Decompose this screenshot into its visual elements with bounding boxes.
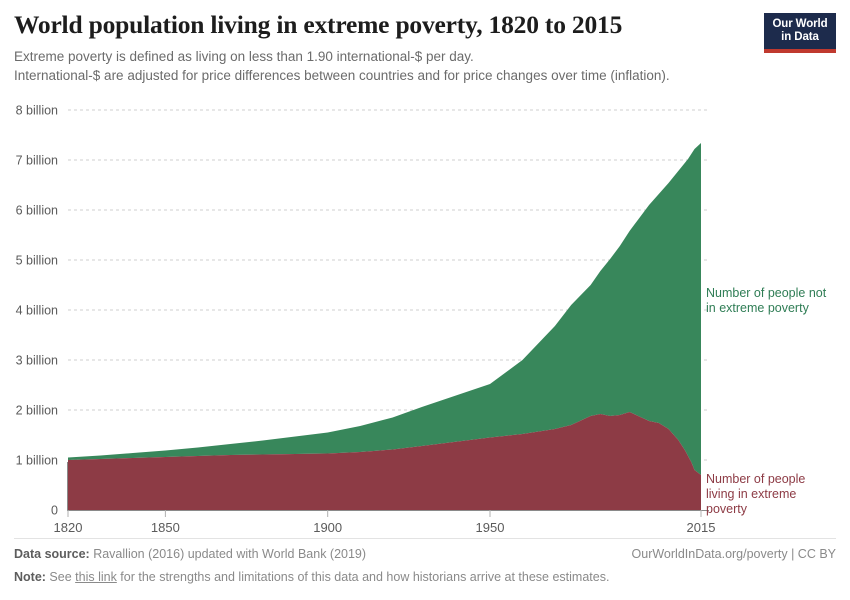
- y-axis-tick-label: 3 billion: [16, 354, 58, 368]
- y-axis-tick-label: 5 billion: [16, 254, 58, 268]
- note-post-text: for the strengths and limitations of thi…: [117, 570, 610, 584]
- note-label: Note:: [14, 570, 46, 584]
- y-axis-tick-label: 0: [51, 504, 58, 518]
- page-title: World population living in extreme pover…: [14, 10, 754, 40]
- data-source: Data source: Ravallion (2016) updated wi…: [14, 545, 366, 563]
- y-axis-tick-label: 6 billion: [16, 204, 58, 218]
- chart-note: Note: See this link for the strengths an…: [14, 568, 609, 586]
- series-label-not-in-poverty: Number of people not in extreme poverty: [706, 286, 831, 316]
- subtitle-line-1: Extreme poverty is defined as living on …: [14, 47, 754, 66]
- attribution[interactable]: OurWorldInData.org/poverty | CC BY: [632, 545, 836, 563]
- note-pre-text: See: [46, 570, 75, 584]
- y-axis-ticks: 01 billion2 billion3 billion4 billion5 b…: [16, 104, 58, 518]
- x-axis-tick-label: 1900: [313, 520, 342, 535]
- chart-header: World population living in extreme pover…: [14, 10, 754, 85]
- subtitle-line-2: International-$ are adjusted for price d…: [14, 66, 754, 85]
- data-source-text: Ravallion (2016) updated with World Bank…: [90, 547, 366, 561]
- x-axis-tick-label: 2015: [687, 520, 716, 535]
- x-axis-tick-label: 1850: [151, 520, 180, 535]
- x-axis-tick-label: 1950: [476, 520, 505, 535]
- footer-row-note: Note: See this link for the strengths an…: [14, 568, 836, 586]
- x-axis: 18201850190019502015: [54, 462, 716, 535]
- chart-subtitle: Extreme poverty is defined as living on …: [14, 47, 754, 85]
- chart-footer: Data source: Ravallion (2016) updated wi…: [14, 545, 836, 586]
- logo-line-1: Our World: [764, 18, 836, 31]
- y-axis-tick-label: 2 billion: [16, 404, 58, 418]
- data-source-label: Data source:: [14, 547, 90, 561]
- footer-row-source: Data source: Ravallion (2016) updated wi…: [14, 545, 836, 563]
- area-in-poverty: [68, 412, 701, 510]
- y-axis-tick-label: 4 billion: [16, 304, 58, 318]
- y-axis-tick-label: 8 billion: [16, 104, 58, 118]
- area-not-in-poverty: [68, 143, 701, 475]
- y-axis-tick-label: 1 billion: [16, 454, 58, 468]
- x-axis-tick-label: 1820: [54, 520, 83, 535]
- y-axis-tick-label: 7 billion: [16, 154, 58, 168]
- chart-page: World population living in extreme pover…: [0, 0, 850, 600]
- owid-logo[interactable]: Our World in Data: [764, 13, 836, 53]
- note-link[interactable]: this link: [75, 570, 117, 584]
- gridlines: [68, 110, 709, 460]
- footer-divider: [14, 538, 836, 539]
- area-series: [68, 143, 701, 510]
- logo-line-2: in Data: [764, 31, 836, 44]
- series-label-in-poverty: Number of people living in extreme pover…: [706, 472, 831, 517]
